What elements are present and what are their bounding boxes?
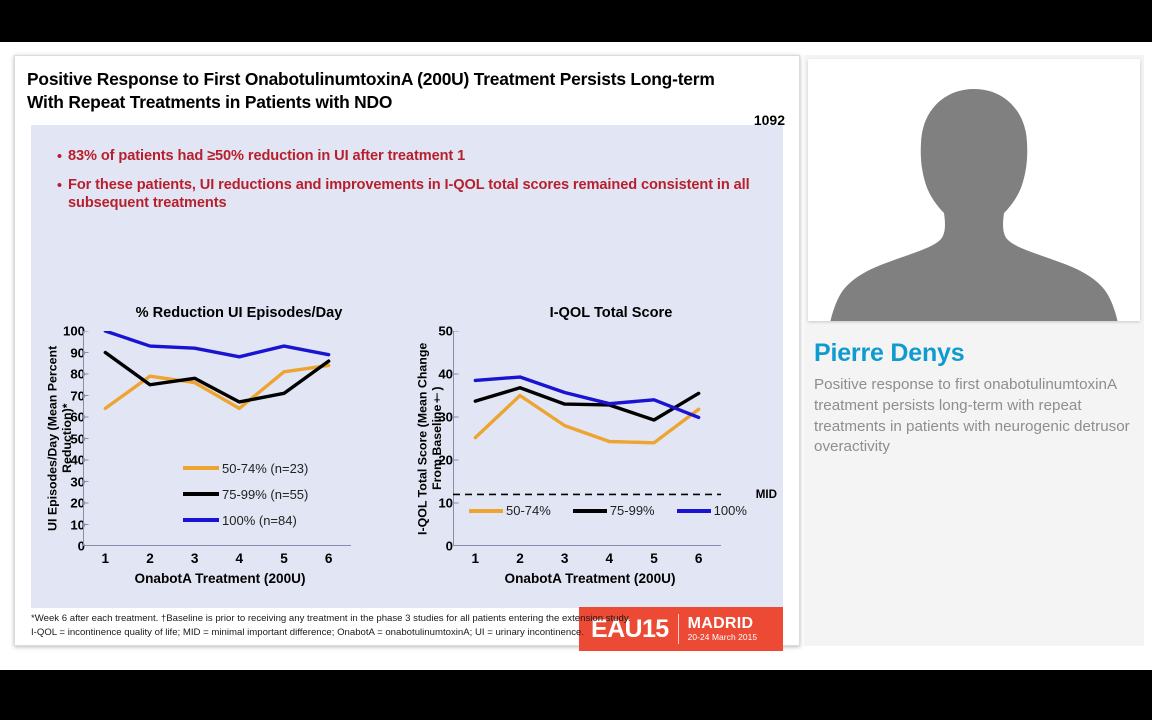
- legend-label: 50-74%: [506, 503, 551, 518]
- legend-item: 50-74%: [469, 503, 551, 518]
- legend-color-swatch: [573, 509, 607, 513]
- x-tick-label: 3: [191, 551, 199, 566]
- legend-label: 50-74% (n=23): [222, 461, 308, 476]
- data-series-line: [105, 331, 328, 357]
- y-tick-label: 100: [45, 324, 85, 339]
- y-tick-label: 80: [45, 367, 85, 382]
- y-tick-label: 30: [413, 410, 453, 425]
- legend-color-swatch: [183, 492, 219, 496]
- footnote-line-2: I-QOL = incontinence quality of life; MI…: [31, 626, 783, 640]
- list-item: • 83% of patients had ≥50% reduction in …: [51, 147, 751, 167]
- legend-color-swatch: [183, 466, 219, 470]
- legend-label: 100%: [714, 503, 747, 518]
- speaker-card: Pierre Denys Positive response to first …: [804, 55, 1144, 646]
- x-axis-label: OnabotA Treatment (200U): [435, 571, 745, 586]
- bullet-list: • 83% of patients had ≥50% reduction in …: [51, 147, 751, 222]
- legend-color-swatch: [183, 518, 219, 522]
- legend-item: 100%: [677, 503, 747, 518]
- legend-item: 75-99%: [573, 503, 655, 518]
- screenshot-stage: Positive Response to First Onabotulinumt…: [0, 0, 1152, 720]
- chart-legend: 50-74% (n=23)75-99% (n=55)100% (n=84): [183, 455, 308, 533]
- y-axis-ticks: 01020304050: [413, 331, 453, 546]
- y-tick-label: 20: [45, 496, 85, 511]
- x-tick-label: 3: [561, 551, 569, 566]
- y-tick-label: 10: [413, 496, 453, 511]
- y-tick-label: 70: [45, 388, 85, 403]
- chart-iqol-score: I-QOL Total Score I-QOL Total Score (Mea…: [409, 305, 781, 595]
- y-tick-label: 60: [45, 410, 85, 425]
- chart-legend: 50-74%75-99%100%: [469, 503, 769, 518]
- slide-panel[interactable]: Positive Response to First Onabotulinumt…: [14, 55, 800, 646]
- x-tick-label: 2: [516, 551, 524, 566]
- y-tick-label: 30: [45, 474, 85, 489]
- letterbox-top: [0, 0, 1152, 42]
- y-tick-label: 40: [413, 367, 453, 382]
- content-area: Positive Response to First Onabotulinumt…: [0, 42, 1152, 670]
- x-tick-label: 2: [146, 551, 154, 566]
- person-silhouette-icon: [808, 61, 1140, 321]
- legend-label: 75-99%: [610, 503, 655, 518]
- x-tick-label: 5: [280, 551, 288, 566]
- letterbox-bottom: [0, 670, 1152, 720]
- chart-title: I-QOL Total Score: [409, 305, 781, 321]
- y-tick-label: 20: [413, 453, 453, 468]
- bullet-text: 83% of patients had ≥50% reduction in UI…: [68, 147, 465, 165]
- footnote-line-1: *Week 6 after each treatment. †Baseline …: [31, 612, 783, 626]
- x-tick-label: 5: [650, 551, 658, 566]
- speaker-name: Pierre Denys: [814, 339, 964, 368]
- speaker-photo: [808, 59, 1140, 321]
- slide-body-panel: • 83% of patients had ≥50% reduction in …: [31, 125, 783, 608]
- legend-label: 75-99% (n=55): [222, 487, 308, 502]
- y-tick-label: 10: [45, 517, 85, 532]
- legend-item: 50-74% (n=23): [183, 455, 308, 481]
- x-axis-label: OnabotA Treatment (200U): [65, 571, 375, 586]
- legend-color-swatch: [469, 509, 503, 513]
- x-tick-label: 6: [695, 551, 703, 566]
- chart-ui-reduction: % Reduction UI Episodes/Day UI Episodes/…: [35, 305, 411, 595]
- x-tick-label: 1: [472, 551, 480, 566]
- x-axis-ticks: 123456: [453, 551, 721, 571]
- x-tick-label: 4: [606, 551, 614, 566]
- mid-annotation-label: MID: [756, 488, 777, 501]
- y-axis-ticks: 0102030405060708090100: [45, 331, 85, 546]
- x-tick-label: 4: [236, 551, 244, 566]
- legend-item: 75-99% (n=55): [183, 481, 308, 507]
- y-tick-label: 40: [45, 453, 85, 468]
- y-tick-label: 50: [413, 324, 453, 339]
- y-tick-label: 90: [45, 345, 85, 360]
- legend-item: 100% (n=84): [183, 507, 308, 533]
- slide-footnote: *Week 6 after each treatment. †Baseline …: [31, 612, 783, 641]
- y-tick-label: 0: [413, 539, 453, 554]
- legend-label: 100% (n=84): [222, 513, 297, 528]
- legend-color-swatch: [677, 509, 711, 513]
- x-axis-ticks: 123456: [83, 551, 351, 571]
- x-tick-label: 6: [325, 551, 333, 566]
- bullet-text: For these patients, UI reductions and im…: [68, 176, 751, 213]
- list-item: • For these patients, UI reductions and …: [51, 176, 751, 213]
- bullet-dot-icon: •: [51, 147, 68, 167]
- bullet-dot-icon: •: [51, 176, 68, 196]
- y-tick-label: 50: [45, 431, 85, 446]
- slide-title: Positive Response to First Onabotulinumt…: [27, 68, 727, 114]
- y-tick-label: 0: [45, 539, 85, 554]
- speaker-description: Positive response to first onabotulinumt…: [814, 375, 1132, 458]
- x-tick-label: 1: [102, 551, 110, 566]
- chart-title: % Reduction UI Episodes/Day: [35, 305, 411, 321]
